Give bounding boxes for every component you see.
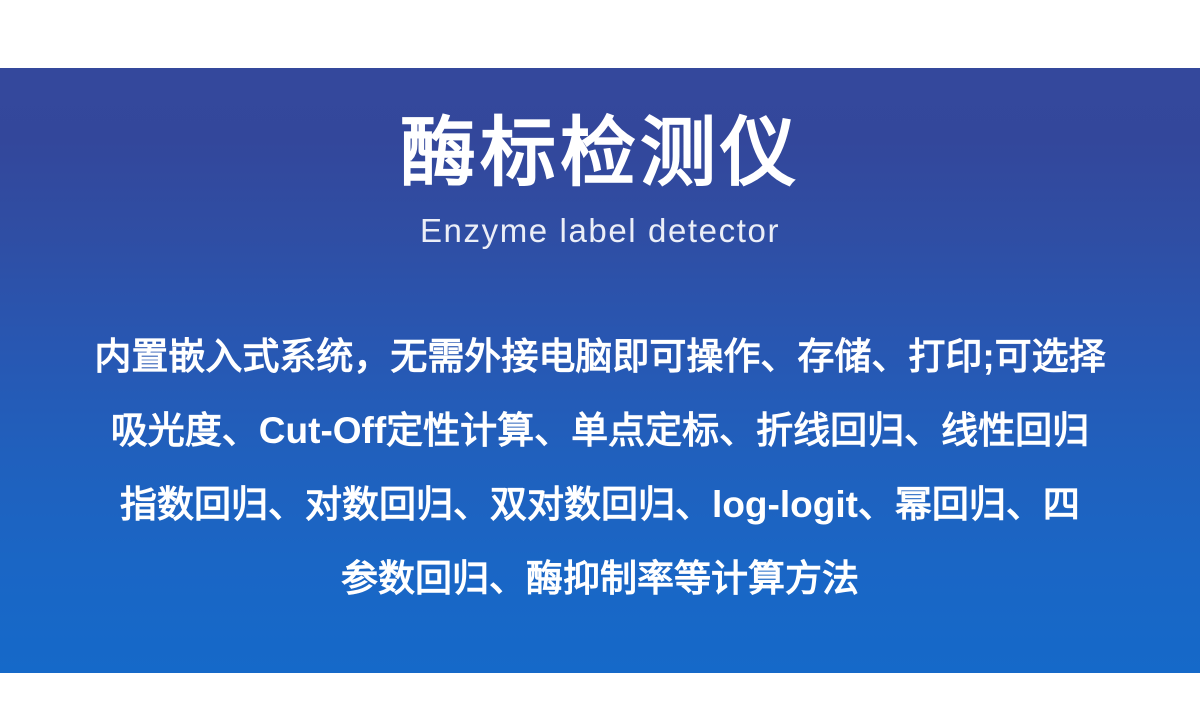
blue-gradient-banner: 酶标检测仪 Enzyme label detector 内置嵌入式系统，无需外接… bbox=[0, 68, 1200, 673]
description-line: 内置嵌入式系统，无需外接电脑即可操作、存储、打印;可选择 bbox=[14, 320, 1186, 394]
product-description: 内置嵌入式系统，无需外接电脑即可操作、存储、打印;可选择 吸光度、Cut-Off… bbox=[14, 320, 1186, 616]
description-line: 指数回归、对数回归、双对数回归、log-logit、幂回归、四 bbox=[14, 468, 1186, 542]
product-title-en: Enzyme label detector bbox=[0, 192, 1200, 247]
banner-content: 酶标检测仪 Enzyme label detector 内置嵌入式系统，无需外接… bbox=[0, 68, 1200, 673]
product-title-cn: 酶标检测仪 bbox=[0, 116, 1200, 192]
headline-block: 酶标检测仪 Enzyme label detector bbox=[0, 116, 1200, 247]
description-line: 参数回归、酶抑制率等计算方法 bbox=[14, 542, 1186, 616]
product-banner-page: 酶标检测仪 Enzyme label detector 内置嵌入式系统，无需外接… bbox=[0, 0, 1200, 708]
description-line: 吸光度、Cut-Off定性计算、单点定标、折线回归、线性回归 bbox=[14, 394, 1186, 468]
